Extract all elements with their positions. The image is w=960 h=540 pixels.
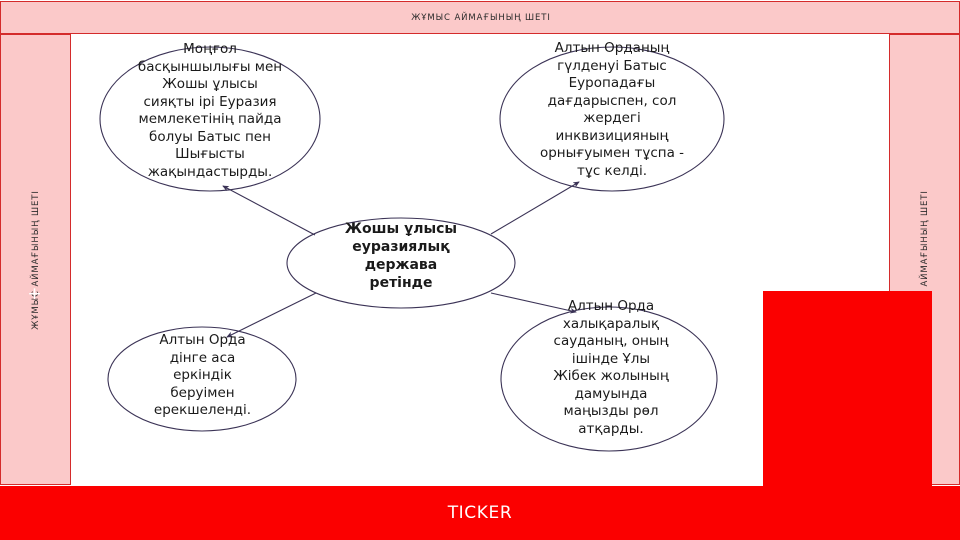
red-overlay-block bbox=[763, 291, 932, 486]
crosshair-plus-icon: + bbox=[27, 287, 42, 302]
node-label-bottom-right: Алтын Орда халықаралық сауданың, оның іш… bbox=[527, 298, 695, 438]
node-label-top-right: Алтын Орданың гүлденуі Батыс Еуропадағы … bbox=[518, 40, 706, 180]
work-area-label-top: ЖҰМЫС АЙМАҒЫНЫҢ ШЕТІ bbox=[1, 13, 960, 23]
connector-center-to-bottom-left bbox=[227, 293, 316, 337]
work-area-band-top: ЖҰМЫС АЙМАҒЫНЫҢ ШЕТІ bbox=[0, 1, 960, 34]
slide-canvas: Моңғол басқыншылығы мен Жошы ұлысы сияқт… bbox=[0, 0, 960, 540]
connector-center-to-top-right bbox=[491, 182, 579, 234]
node-label-center: Жошы ұлысы еуразиялық держава ретінде bbox=[316, 220, 486, 292]
work-area-band-left: ЖҰМЫС АЙМАҒЫНЫҢ ШЕТІ + bbox=[0, 34, 71, 485]
work-area-label-left: ЖҰМЫС АЙМАҒЫНЫҢ ШЕТІ bbox=[31, 190, 41, 330]
node-label-bottom-left: Алтын Орда дінге аса еркіндік беруімен е… bbox=[120, 332, 285, 420]
ticker-label: TICKER bbox=[0, 503, 960, 523]
node-label-top-left: Моңғол басқыншылығы мен Жошы ұлысы сияқт… bbox=[115, 41, 305, 181]
connector-center-to-top-left bbox=[223, 186, 315, 235]
